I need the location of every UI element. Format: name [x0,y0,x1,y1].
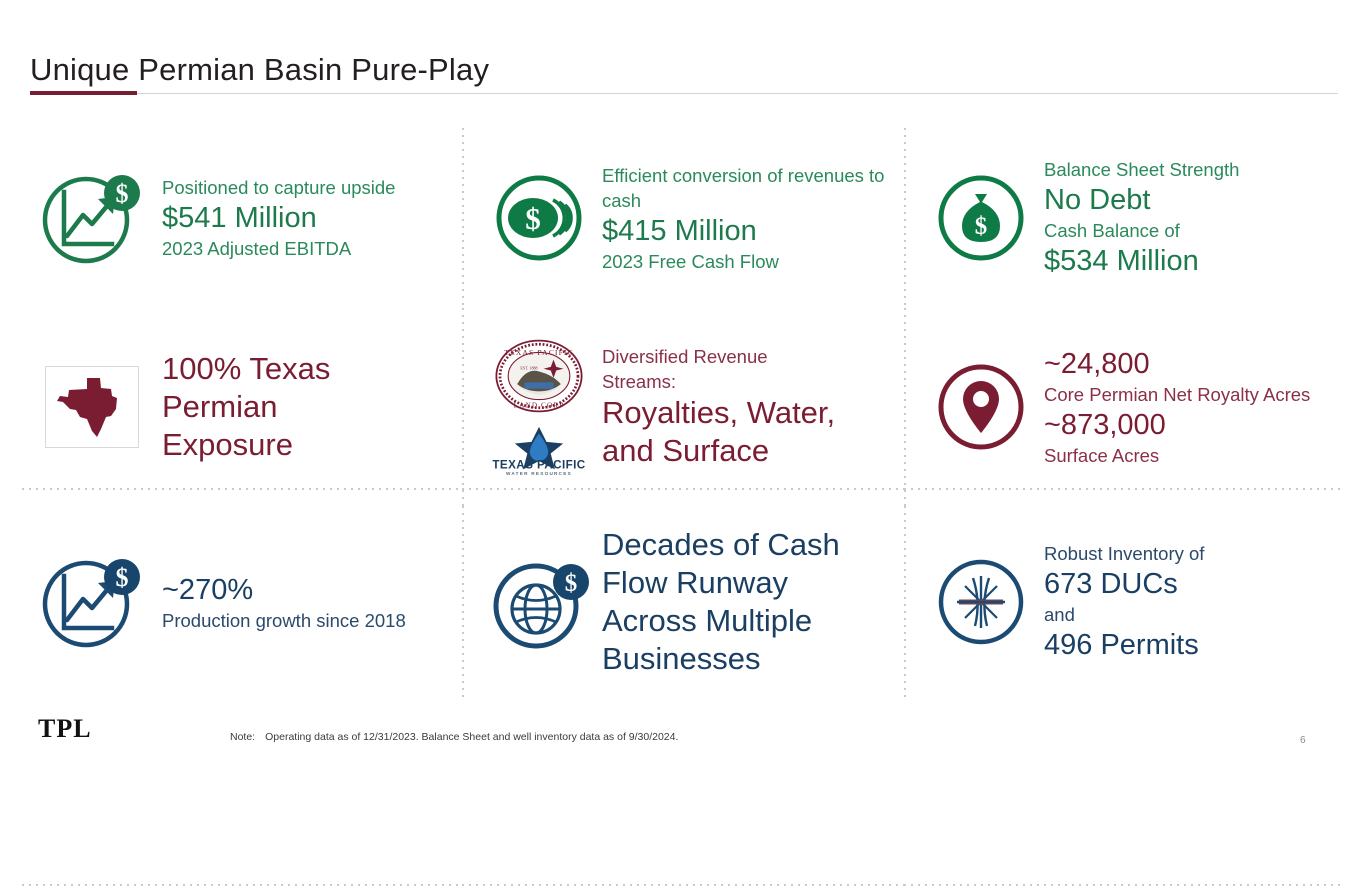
well-starburst-icon [918,556,1044,648]
chart-growth-dollar-icon: $ [22,552,162,652]
card-value: No Debt [1044,182,1342,218]
svg-text:$: $ [565,570,578,597]
svg-text:EST. 1888: EST. 1888 [520,366,537,371]
card-text: Diversified Revenue Streams: Royalties, … [602,344,904,470]
texas-map-icon [22,366,162,448]
divider-vertical [462,128,464,308]
card-text: 100% Texas Permian Exposure [162,350,462,464]
tpl-logo: TPL [38,714,92,744]
svg-text:LAND CORP: LAND CORP [514,402,565,410]
card-cash-flow-runway: $ Decades of Cash Flow Runway Across Mul… [462,506,904,698]
header-rule [30,93,1338,94]
card-production-growth: $ ~270% Production growth since 2018 [22,506,462,698]
svg-text:$: $ [116,563,129,592]
card-line: Efficient conversion of revenues to cash [602,163,904,213]
card-line: 2023 Adjusted EBITDA [162,236,462,261]
tpl-seal-logo: TEXAS PACIFIC LAND CORP EST. 1888 [493,337,585,415]
divider-horizontal [462,488,904,490]
card-line: Positioned to capture upside [162,175,462,200]
card-text: Robust Inventory of 673 DUCs and 496 Per… [1044,541,1342,663]
card-line: Robust Inventory of [1044,541,1342,566]
card-free-cash-flow: $ Efficient conversion of revenues to ca… [462,128,904,308]
card-line: Cash Balance of [1044,218,1342,243]
card-value: 673 DUCs [1044,566,1342,602]
card-line: and [1044,602,1342,627]
card-text: ~24,800 Core Permian Net Royalty Acres ~… [1044,346,1342,468]
footnote-label: Note: [230,731,255,743]
card-text: Balance Sheet Strength No Debt Cash Bala… [1044,157,1342,279]
svg-text:WATER RESOURCES: WATER RESOURCES [506,471,572,476]
footnote-text: Operating data as of 12/31/2023. Balance… [265,731,678,743]
globe-dollar-icon: $ [476,552,602,652]
divider-vertical [904,308,906,506]
chart-growth-dollar-icon: $ [22,168,162,268]
cash-stack-dollar-icon: $ [476,172,602,264]
card-value: $415 Million [602,213,904,249]
page-number: 6 [1300,735,1306,746]
svg-text:TEXAS PACIFIC: TEXAS PACIFIC [504,348,574,357]
card-adjusted-ebitda: $ Positioned to capture upside $541 Mill… [22,128,462,308]
card-balance-sheet: $ Balance Sheet Strength No Debt Cash Ba… [904,128,1342,308]
card-value: ~24,800 [1044,346,1342,382]
metrics-grid: $ Positioned to capture upside $541 Mill… [22,128,1342,698]
card-value: $534 Million [1044,243,1342,279]
footnote: Note:Operating data as of 12/31/2023. Ba… [230,731,678,743]
svg-text:$: $ [116,179,129,208]
svg-text:TEXAS PACIFIC: TEXAS PACIFIC [492,459,585,472]
card-line: Balance Sheet Strength [1044,157,1342,182]
card-line: Surface Acres [1044,443,1342,468]
svg-text:$: $ [525,201,541,236]
page-title: Unique Permian Basin Pure-Play [30,52,489,88]
card-value: 100% Texas Permian Exposure [162,350,412,464]
card-inventory: Robust Inventory of 673 DUCs and 496 Per… [904,506,1342,698]
card-line: 2023 Free Cash Flow [602,249,904,274]
map-pin-icon [918,361,1044,453]
card-text: Positioned to capture upside $541 Millio… [162,175,462,261]
card-text: Efficient conversion of revenues to cash… [602,163,904,274]
brand-logos: TEXAS PACIFIC LAND CORP EST. 1888 TEXAS … [476,337,602,477]
card-value: $541 Million [162,200,462,236]
card-text: Decades of Cash Flow Runway Across Multi… [602,526,904,678]
svg-text:$: $ [975,213,988,240]
slide: Unique Permian Basin Pure-Play $ Positio… [0,0,1365,768]
card-value: Decades of Cash Flow Runway Across Multi… [602,526,877,678]
card-diversified-revenue: TEXAS PACIFIC LAND CORP EST. 1888 TEXAS … [462,308,904,506]
header-rule-accent [30,91,137,95]
card-texas-exposure: 100% Texas Permian Exposure [22,308,462,506]
card-acreage: ~24,800 Core Permian Net Royalty Acres ~… [904,308,1342,506]
card-line: Production growth since 2018 [162,608,424,633]
divider-vertical [462,308,464,506]
texas-pacific-water-resources-logo: TEXAS PACIFIC WATER RESOURCES [489,425,589,477]
card-line: Diversified Revenue Streams: [602,344,817,394]
divider-horizontal [904,488,1342,490]
divider-vertical [904,128,906,308]
card-line: Core Permian Net Royalty Acres [1044,382,1314,407]
divider-vertical [462,506,464,698]
card-value: Royalties, Water, and Surface [602,394,877,470]
card-value: ~270% [162,572,462,608]
divider-vertical [904,506,906,698]
card-value: ~873,000 [1044,407,1342,443]
divider-horizontal [22,488,462,490]
card-text: ~270% Production growth since 2018 [162,572,462,633]
money-bag-icon: $ [918,172,1044,264]
card-value: 496 Permits [1044,627,1342,663]
